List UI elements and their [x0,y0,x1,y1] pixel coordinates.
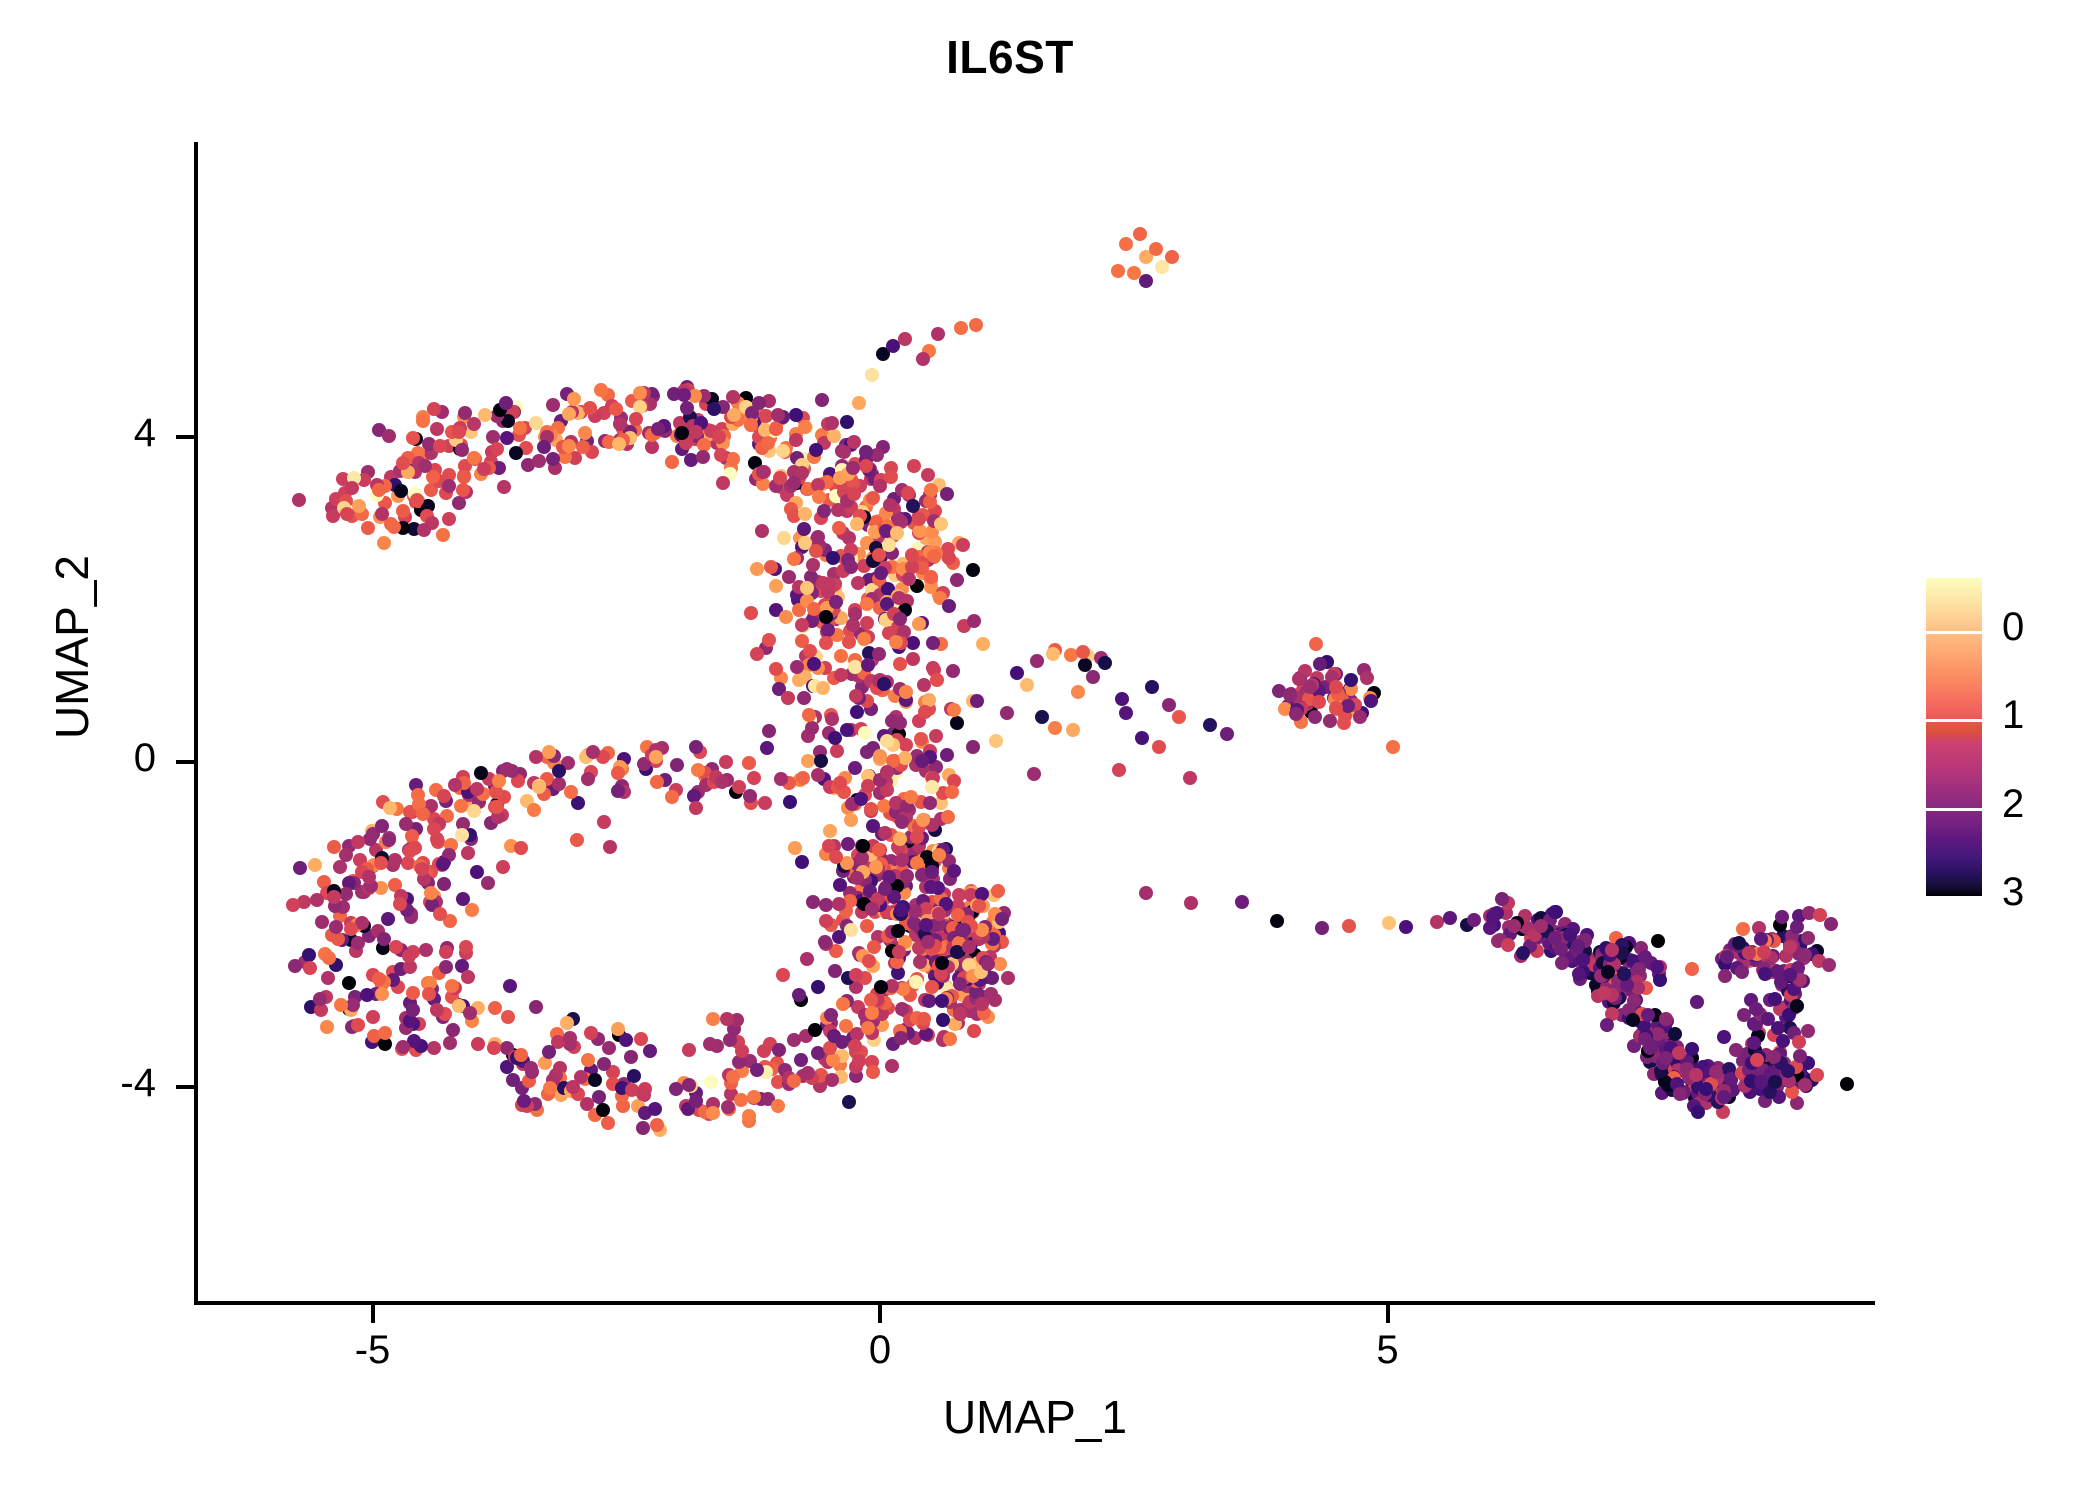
scatter-point [956,538,970,552]
scatter-point [474,766,488,780]
scatter-point [925,980,939,994]
scatter-point [344,922,358,936]
scatter-point [909,975,923,989]
scatter-point [443,1036,457,1050]
scatter-point [302,948,316,962]
scatter-point [696,450,710,464]
scatter-point [382,429,396,443]
scatter-point [819,610,833,624]
scatter-point [898,332,912,346]
scatter-point [924,483,938,497]
scatter-point [789,433,803,447]
scatter-point [619,1033,633,1047]
scatter-point [415,862,429,876]
scatter-point [442,479,456,493]
scatter-point [1467,913,1481,927]
scatter-point [950,573,964,587]
scatter-point [1824,917,1838,931]
scatter-point [503,979,517,993]
scatter-point [1771,1021,1785,1035]
scatter-point [830,744,844,758]
scatter-point [487,1041,501,1055]
scatter-point [1641,1008,1655,1022]
scatter-point [457,470,471,484]
scatter-point [1651,1027,1665,1041]
scatter-point [984,987,998,1001]
scatter-point [321,971,335,985]
scatter-point [913,955,927,969]
scatter-point [706,1012,720,1026]
scatter-point [750,562,764,576]
scatter-point [1534,919,1548,933]
scatter-point [840,723,854,737]
scatter-point [1165,250,1179,264]
legend-tick-mark [1926,719,1982,722]
scatter-point [846,461,860,475]
scatter-point [915,754,929,768]
scatter-point [1035,710,1049,724]
scatter-point [1718,969,1732,983]
y-axis-title: UMAP_2 [45,497,99,797]
x-tick-label: 0 [800,1328,960,1373]
scatter-point [726,452,740,466]
scatter-point [970,694,984,708]
scatter-point [286,898,300,912]
scatter-point [818,935,832,949]
scatter-point [627,1069,641,1083]
scatter-point [848,660,862,674]
scatter-point [857,632,871,646]
scatter-point [445,979,459,993]
scatter-point [1792,1035,1806,1049]
scatter-point [1768,992,1782,1006]
scatter-point [1001,971,1015,985]
scatter-point [930,673,944,687]
scatter-point [842,1095,856,1109]
scatter-point [427,1041,441,1055]
scatter-point [811,980,825,994]
scatter-point [331,932,345,946]
scatter-point [1790,920,1804,934]
scatter-point [388,853,402,867]
scatter-point [787,1074,801,1088]
scatter-point [1699,1082,1713,1096]
scatter-point [1659,1012,1673,1026]
scatter-point [781,691,795,705]
scatter-point [351,1018,365,1032]
scatter-point [776,968,790,982]
scatter-point [1312,695,1326,709]
scatter-point [809,443,823,457]
scatter-point [416,414,430,428]
scatter-point [850,705,864,719]
scatter-point [1650,960,1664,974]
scatter-point [327,890,341,904]
scatter-point [828,964,842,978]
scatter-point [976,637,990,651]
scatter-point [821,623,835,637]
scatter-point [757,1044,771,1058]
scatter-point [834,649,848,663]
scatter-point [1501,938,1515,952]
scatter-point [777,531,791,545]
scatter-point [592,1090,606,1104]
scatter-point [345,481,359,495]
scatter-point [1659,1051,1673,1065]
scatter-point [779,610,793,624]
scatter-point [886,339,900,353]
scatter-point [560,1016,574,1030]
scatter-point [1754,932,1768,946]
scatter-point [817,504,831,518]
scatter-point [805,721,819,735]
scatter-point [762,724,776,738]
scatter-point [436,857,450,871]
scatter-point [847,487,861,501]
scatter-point [1133,227,1147,241]
scatter-point [546,452,560,466]
scatter-point [1289,707,1303,721]
scatter-point [651,422,665,436]
scatter-point [825,712,839,726]
scatter-point [916,352,930,366]
scatter-point [1783,940,1797,954]
scatter-point [1010,666,1024,680]
scatter-point [1313,657,1327,671]
scatter-point [859,459,873,473]
scatter-point [904,790,918,804]
scatter-point [906,636,920,650]
scatter-point [723,1033,737,1047]
scatter-point [465,903,479,917]
scatter-point [860,616,874,630]
scatter-point [981,957,995,971]
scatter-point [1548,931,1562,945]
scatter-point [339,887,353,901]
scatter-point [902,572,916,586]
scatter-point [872,843,886,857]
scatter-point [389,940,403,954]
scatter-point [995,912,1009,926]
scatter-point [1736,922,1750,936]
scatter-point [588,1073,602,1087]
scatter-point [1184,896,1198,910]
scatter-point [890,526,904,540]
scatter-point [1399,920,1413,934]
scatter-point [1046,647,1060,661]
scatter-point [1066,723,1080,737]
scatter-point [682,1043,696,1057]
scatter-point [383,801,397,815]
scatter-point [776,444,790,458]
legend-tick-label: 1 [2002,693,2024,738]
y-tick-mark [176,1085,194,1089]
scatter-point [934,517,948,531]
scatter-point [406,1003,420,1017]
scatter-point [919,918,933,932]
scatter-point [758,796,772,810]
scatter-point [828,731,842,745]
scatter-point [437,789,451,803]
scatter-point [481,876,495,890]
scatter-point [906,652,920,666]
scatter-point [1653,973,1667,987]
scatter-point [546,398,560,412]
legend-tick-label: 3 [2002,870,2024,915]
scatter-point [866,1065,880,1079]
scatter-point [1689,1068,1703,1082]
plot-panel [197,142,1875,1303]
scatter-point [925,780,939,794]
scatter-point [929,729,943,743]
scatter-point [861,658,875,672]
scatter-point [403,844,417,858]
scatter-point [833,878,847,892]
scatter-point [1386,740,1400,754]
scatter-point [1758,967,1772,981]
scatter-point [501,1010,515,1024]
scatter-point [497,480,511,494]
scatter-point [361,521,375,535]
scatter-point [844,923,858,937]
scatter-point [1781,1064,1795,1078]
scatter-point [807,657,821,671]
scatter-point [1172,710,1186,724]
scatter-point [806,895,820,909]
scatter-point [860,919,874,933]
scatter-point [636,1121,650,1135]
scatter-point [906,499,920,513]
scatter-point [862,954,876,968]
scatter-point [760,741,774,755]
scatter-point [907,459,921,473]
scatter-point [670,758,684,772]
scatter-point [947,864,961,878]
scatter-point [648,1102,662,1116]
scatter-point [1576,953,1590,967]
scatter-point [1840,1077,1854,1091]
scatter-point [1071,685,1085,699]
scatter-point [991,884,1005,898]
scatter-point [824,1008,838,1022]
scatter-point [1309,637,1323,651]
scatter-point [532,454,546,468]
scatter-point [689,740,703,754]
scatter-point [967,1024,981,1038]
scatter-point [433,439,447,453]
legend-tick-mark [1926,896,1982,899]
scatter-point [844,560,858,574]
scatter-point [917,1012,931,1026]
y-tick-label: -4 [36,1061,156,1106]
scatter-point [815,393,829,407]
scatter-point [529,750,543,764]
scatter-point [855,851,869,865]
scatter-point [514,841,528,855]
scatter-point [446,1023,460,1037]
scatter-point [925,865,939,879]
scatter-point [1220,727,1234,741]
scatter-point [769,662,783,676]
scatter-point [703,1037,717,1051]
scatter-point [773,471,787,485]
scatter-point [885,1059,899,1073]
scatter-point [322,951,336,965]
scatter-point [366,1010,380,1024]
page-title: IL6ST [0,30,2020,84]
scatter-point [801,754,815,768]
x-tick-mark [878,1305,882,1323]
scatter-point [1235,895,1249,909]
scatter-point [769,422,783,436]
scatter-point [1742,946,1756,960]
scatter-point [727,408,741,422]
scatter-point [927,549,941,563]
scatter-point [452,425,466,439]
y-tick-mark [176,435,194,439]
scatter-point [816,681,830,695]
scatter-point [339,848,353,862]
scatter-point [430,1003,444,1017]
scatter-point [940,748,954,762]
scatter-point [808,1023,822,1037]
scatter-point [603,840,617,854]
scatter-point [1672,1046,1686,1060]
scatter-point [942,599,956,613]
scatter-point [419,943,433,957]
x-axis-title: UMAP_1 [200,1390,1870,1444]
scatter-point [832,897,846,911]
scatter-point [303,961,317,975]
scatter-point [893,832,907,846]
scatter-point [1337,716,1351,730]
scatter-point [1139,274,1153,288]
scatter-point [455,828,469,842]
scatter-point [834,668,848,682]
scatter-point [865,1006,879,1020]
scatter-point [707,402,721,416]
scatter-point [594,383,608,397]
scatter-point [463,1006,477,1020]
scatter-point [689,1094,703,1108]
scatter-point [762,633,776,647]
scatter-point [825,1073,839,1087]
scatter-point [806,558,820,572]
scatter-point [769,579,783,593]
scatter-point [570,833,584,847]
x-tick-mark [371,1305,375,1323]
scatter-point [953,1007,967,1021]
scatter-point [566,1080,580,1094]
scatter-point [798,507,812,521]
scatter-point [351,835,365,849]
scatter-point [1801,931,1815,945]
scatter-point [771,408,785,422]
scatter-point [847,435,861,449]
scatter-point [509,446,523,460]
scatter-point [801,1066,815,1080]
scatter-point [931,327,945,341]
scatter-point [894,903,908,917]
scatter-point [406,986,420,1000]
scatter-point [1308,710,1322,724]
scatter-point [1757,945,1771,959]
scatter-point [377,536,391,550]
scatter-point [950,716,964,730]
scatter-point [500,431,514,445]
scatter-point [467,804,481,818]
scatter-point [542,1045,556,1059]
scatter-point [772,1043,786,1057]
scatter-point [744,606,758,620]
scatter-point [900,869,914,883]
scatter-point [947,703,961,717]
scatter-point [884,470,898,484]
scatter-point [1717,1090,1731,1104]
scatter-point [1750,1053,1764,1067]
scatter-point [932,848,946,862]
scatter-point [1600,1018,1614,1032]
scatter-point [989,734,1003,748]
scatter-point [1651,934,1665,948]
scatter-point [650,775,664,789]
scatter-point-layer [197,142,1875,1303]
scatter-point [308,858,322,872]
scatter-point [1364,694,1378,708]
legend-tick-label: 0 [2002,605,2024,650]
scatter-point [1030,654,1044,668]
scatter-point [893,657,907,671]
scatter-point [851,576,865,590]
scatter-point [1486,910,1500,924]
scatter-point [375,987,389,1001]
scatter-point [381,912,395,926]
scatter-point [1690,995,1704,1009]
scatter-point [852,396,866,410]
scatter-point [442,512,456,526]
scatter-point [878,882,892,896]
scatter-point [611,766,625,780]
scatter-point [333,860,347,874]
scatter-point [1810,1068,1824,1082]
scatter-point [1000,706,1014,720]
scatter-point [849,968,863,982]
scatter-point [1112,763,1126,777]
scatter-point [744,418,758,432]
scatter-point [921,468,935,482]
scatter-point [1555,956,1569,970]
scatter-point [416,807,430,821]
scatter-point [923,796,937,810]
scatter-point [1790,999,1804,1013]
scatter-point [488,1001,502,1015]
scatter-point [924,570,938,584]
scatter-point [825,416,839,430]
scatter-point [852,1054,866,1068]
scatter-point [1548,905,1562,919]
scatter-point [1798,948,1812,962]
scatter-point [567,392,581,406]
scatter-point [1495,892,1509,906]
scatter-point [437,877,451,891]
y-tick-mark [176,760,194,764]
scatter-point [1145,680,1159,694]
scatter-point [1162,698,1176,712]
scatter-point [612,437,626,451]
legend-tick-label: 2 [2002,782,2024,827]
scatter-point [880,734,894,748]
scatter-point [422,987,436,1001]
